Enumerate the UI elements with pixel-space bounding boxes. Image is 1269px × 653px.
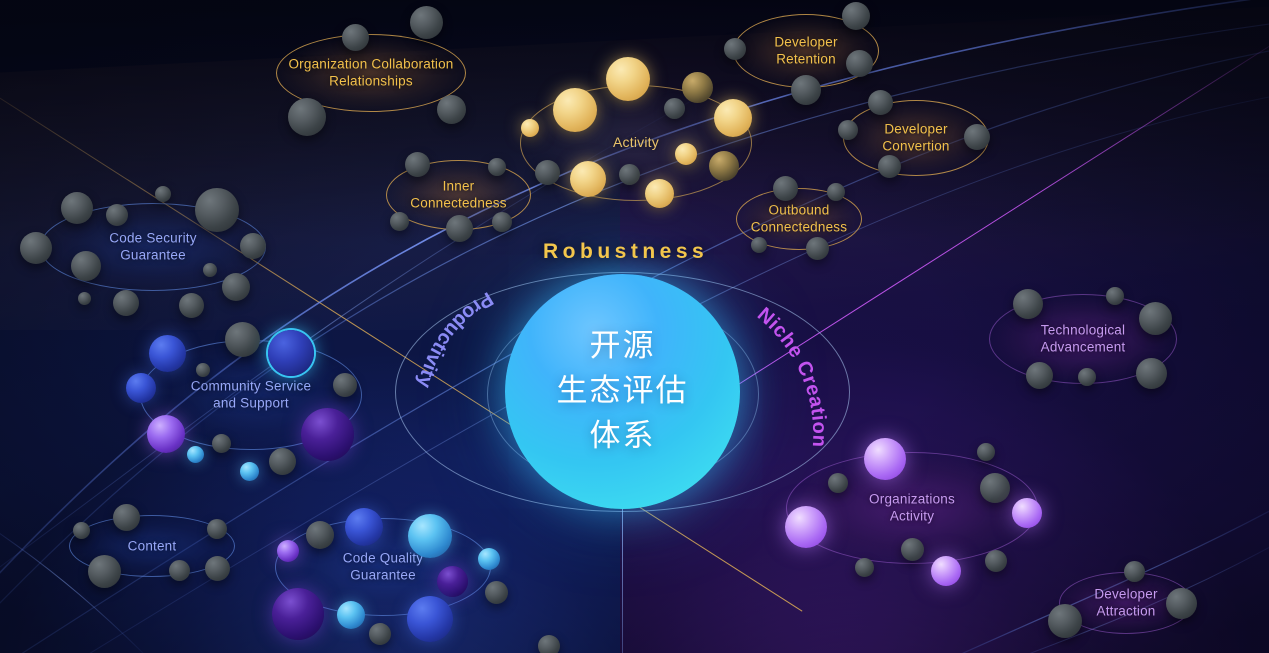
sphere [985, 550, 1007, 572]
sphere [1136, 358, 1167, 389]
sphere [606, 57, 650, 101]
sphere [645, 179, 674, 208]
sphere [410, 6, 443, 39]
sphere [838, 120, 858, 140]
sphere [88, 555, 121, 588]
sphere [272, 588, 324, 640]
sphere [538, 635, 560, 653]
sphere [222, 273, 250, 301]
sphere [773, 176, 798, 201]
sphere [407, 596, 453, 642]
core-title: 开源 生态评估 体系 [557, 324, 689, 459]
sphere [1166, 588, 1197, 619]
sphere [333, 373, 357, 397]
sphere [113, 290, 139, 316]
sphere [1048, 604, 1082, 638]
sphere [675, 143, 697, 165]
infographic-canvas: Organization Collaboration Relationships… [0, 0, 1269, 653]
sphere [78, 292, 91, 305]
sphere [20, 232, 52, 264]
sphere [806, 237, 829, 260]
sphere [437, 95, 466, 124]
sphere [855, 558, 874, 577]
sphere [492, 212, 512, 232]
sphere [446, 215, 473, 242]
sphere [301, 408, 354, 461]
sphere [195, 188, 239, 232]
sphere [268, 330, 314, 376]
sphere [485, 581, 508, 604]
sphere [1013, 289, 1043, 319]
sphere [570, 161, 606, 197]
sphere [205, 556, 230, 581]
sphere [864, 438, 906, 480]
sphere [977, 443, 995, 461]
sphere [155, 186, 171, 202]
sphere [980, 473, 1010, 503]
sphere [306, 521, 334, 549]
sphere [709, 151, 739, 181]
sphere [1078, 368, 1096, 386]
sphere [437, 566, 468, 597]
sphere [842, 2, 870, 30]
sphere [664, 98, 685, 119]
sphere [369, 623, 391, 645]
sphere [240, 233, 266, 259]
sphere [269, 448, 296, 475]
sphere [126, 373, 156, 403]
sphere [682, 72, 713, 103]
sphere [277, 540, 299, 562]
sphere [207, 519, 227, 539]
sphere [390, 212, 409, 231]
sphere [521, 119, 539, 137]
core-sphere[interactable]: 开源 生态评估 体系 [505, 274, 740, 509]
sphere [149, 335, 186, 372]
sphere [1012, 498, 1042, 528]
sphere [225, 322, 260, 357]
sphere [342, 24, 369, 51]
sphere [553, 88, 597, 132]
sphere [1124, 561, 1145, 582]
sphere [619, 164, 640, 185]
sphere [478, 548, 500, 570]
sphere [868, 90, 893, 115]
sphere [724, 38, 746, 60]
sphere [901, 538, 924, 561]
sphere [61, 192, 93, 224]
sphere [1106, 287, 1124, 305]
sphere [846, 50, 873, 77]
sphere [337, 601, 365, 629]
sphere [113, 504, 140, 531]
sphere [964, 124, 990, 150]
sphere [73, 522, 90, 539]
sphere [106, 204, 128, 226]
sphere [931, 556, 961, 586]
sphere [240, 462, 259, 481]
sphere [488, 158, 506, 176]
sphere [187, 446, 204, 463]
sphere [714, 99, 752, 137]
sphere [147, 415, 185, 453]
sphere [791, 75, 821, 105]
sphere [751, 237, 767, 253]
sphere [1139, 302, 1172, 335]
sphere [196, 363, 210, 377]
sphere [179, 293, 204, 318]
sphere [169, 560, 190, 581]
sphere [878, 155, 901, 178]
sphere [1026, 362, 1053, 389]
sphere [212, 434, 231, 453]
sphere [828, 473, 848, 493]
sphere [288, 98, 326, 136]
sphere [345, 508, 383, 546]
sphere [785, 506, 827, 548]
sphere [203, 263, 217, 277]
sphere [535, 160, 560, 185]
sphere [408, 514, 452, 558]
sphere [827, 183, 845, 201]
sphere [405, 152, 430, 177]
sphere [71, 251, 101, 281]
